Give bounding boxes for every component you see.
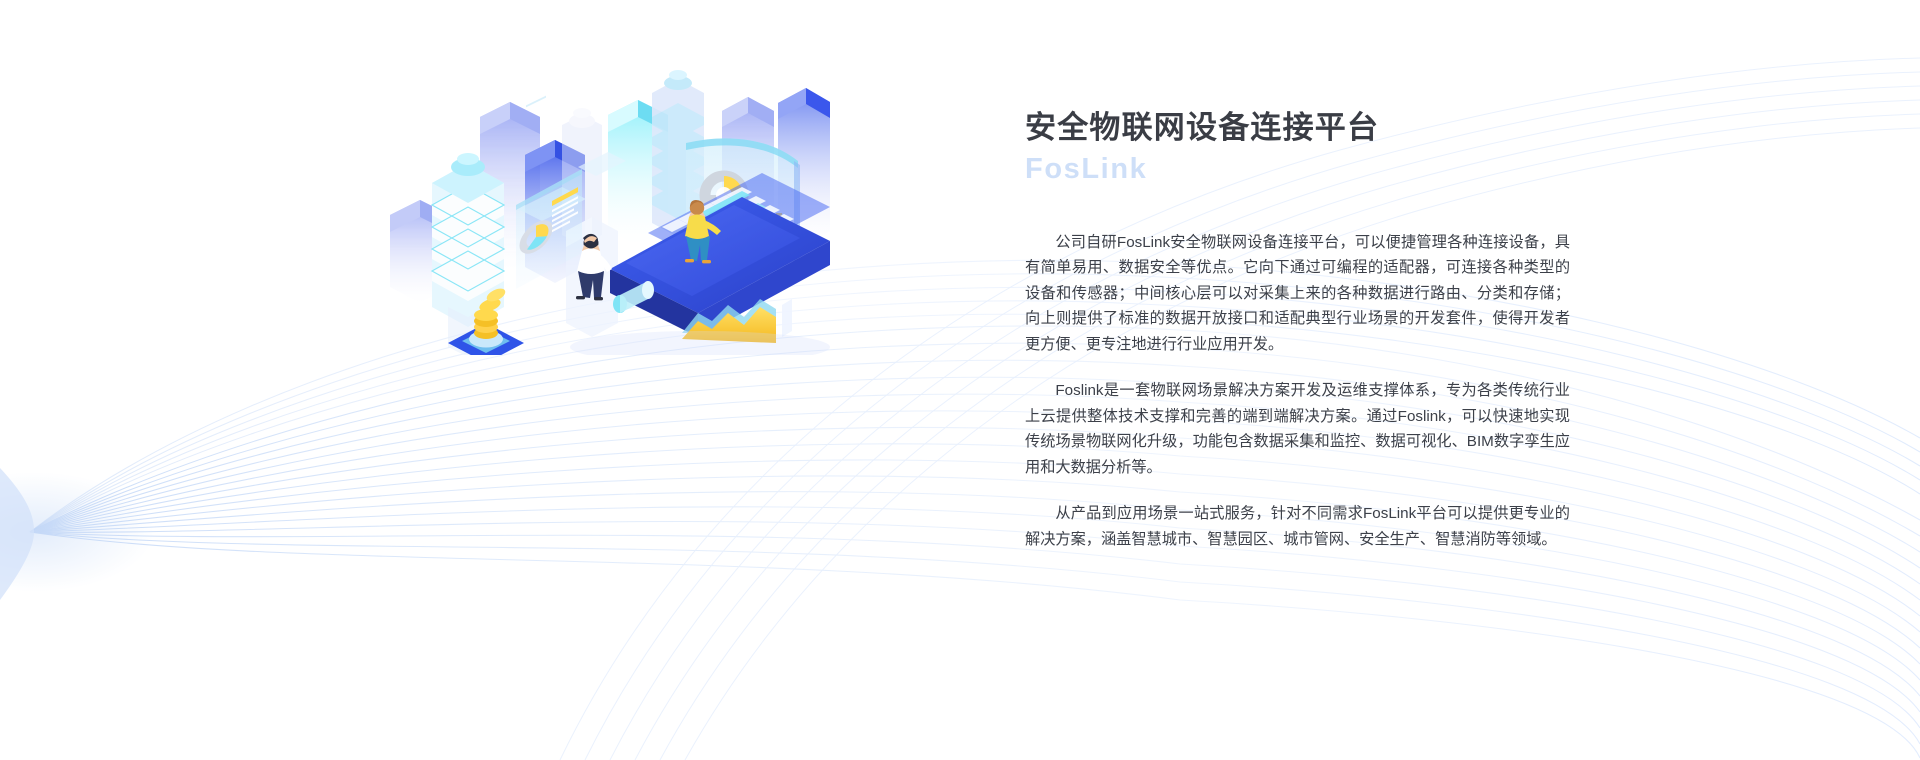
hero-section: 安全物联网设备连接平台 FosLink 公司自研FosLink安全物联网设备连接…: [0, 0, 1920, 760]
paragraph-2: Foslink是一套物联网场景解决方案开发及运维支撑体系，专为各类传统行业上云提…: [1025, 378, 1570, 480]
isometric-platform-illustration: [330, 55, 830, 355]
background-wave-lines: [0, 0, 1920, 760]
body-paragraphs: 公司自研FosLink安全物联网设备连接平台，可以便捷管理各种连接设备，具有简单…: [1025, 230, 1570, 553]
page-subtitle: FosLink: [1025, 150, 1570, 188]
page-title: 安全物联网设备连接平台: [1025, 108, 1570, 148]
hero-text-column: 安全物联网设备连接平台 FosLink 公司自研FosLink安全物联网设备连接…: [1025, 108, 1570, 552]
paragraph-1: 公司自研FosLink安全物联网设备连接平台，可以便捷管理各种连接设备，具有简单…: [1025, 230, 1570, 358]
paragraph-3: 从产品到应用场景一站式服务，针对不同需求FosLink平台可以提供更专业的解决方…: [1025, 501, 1570, 552]
